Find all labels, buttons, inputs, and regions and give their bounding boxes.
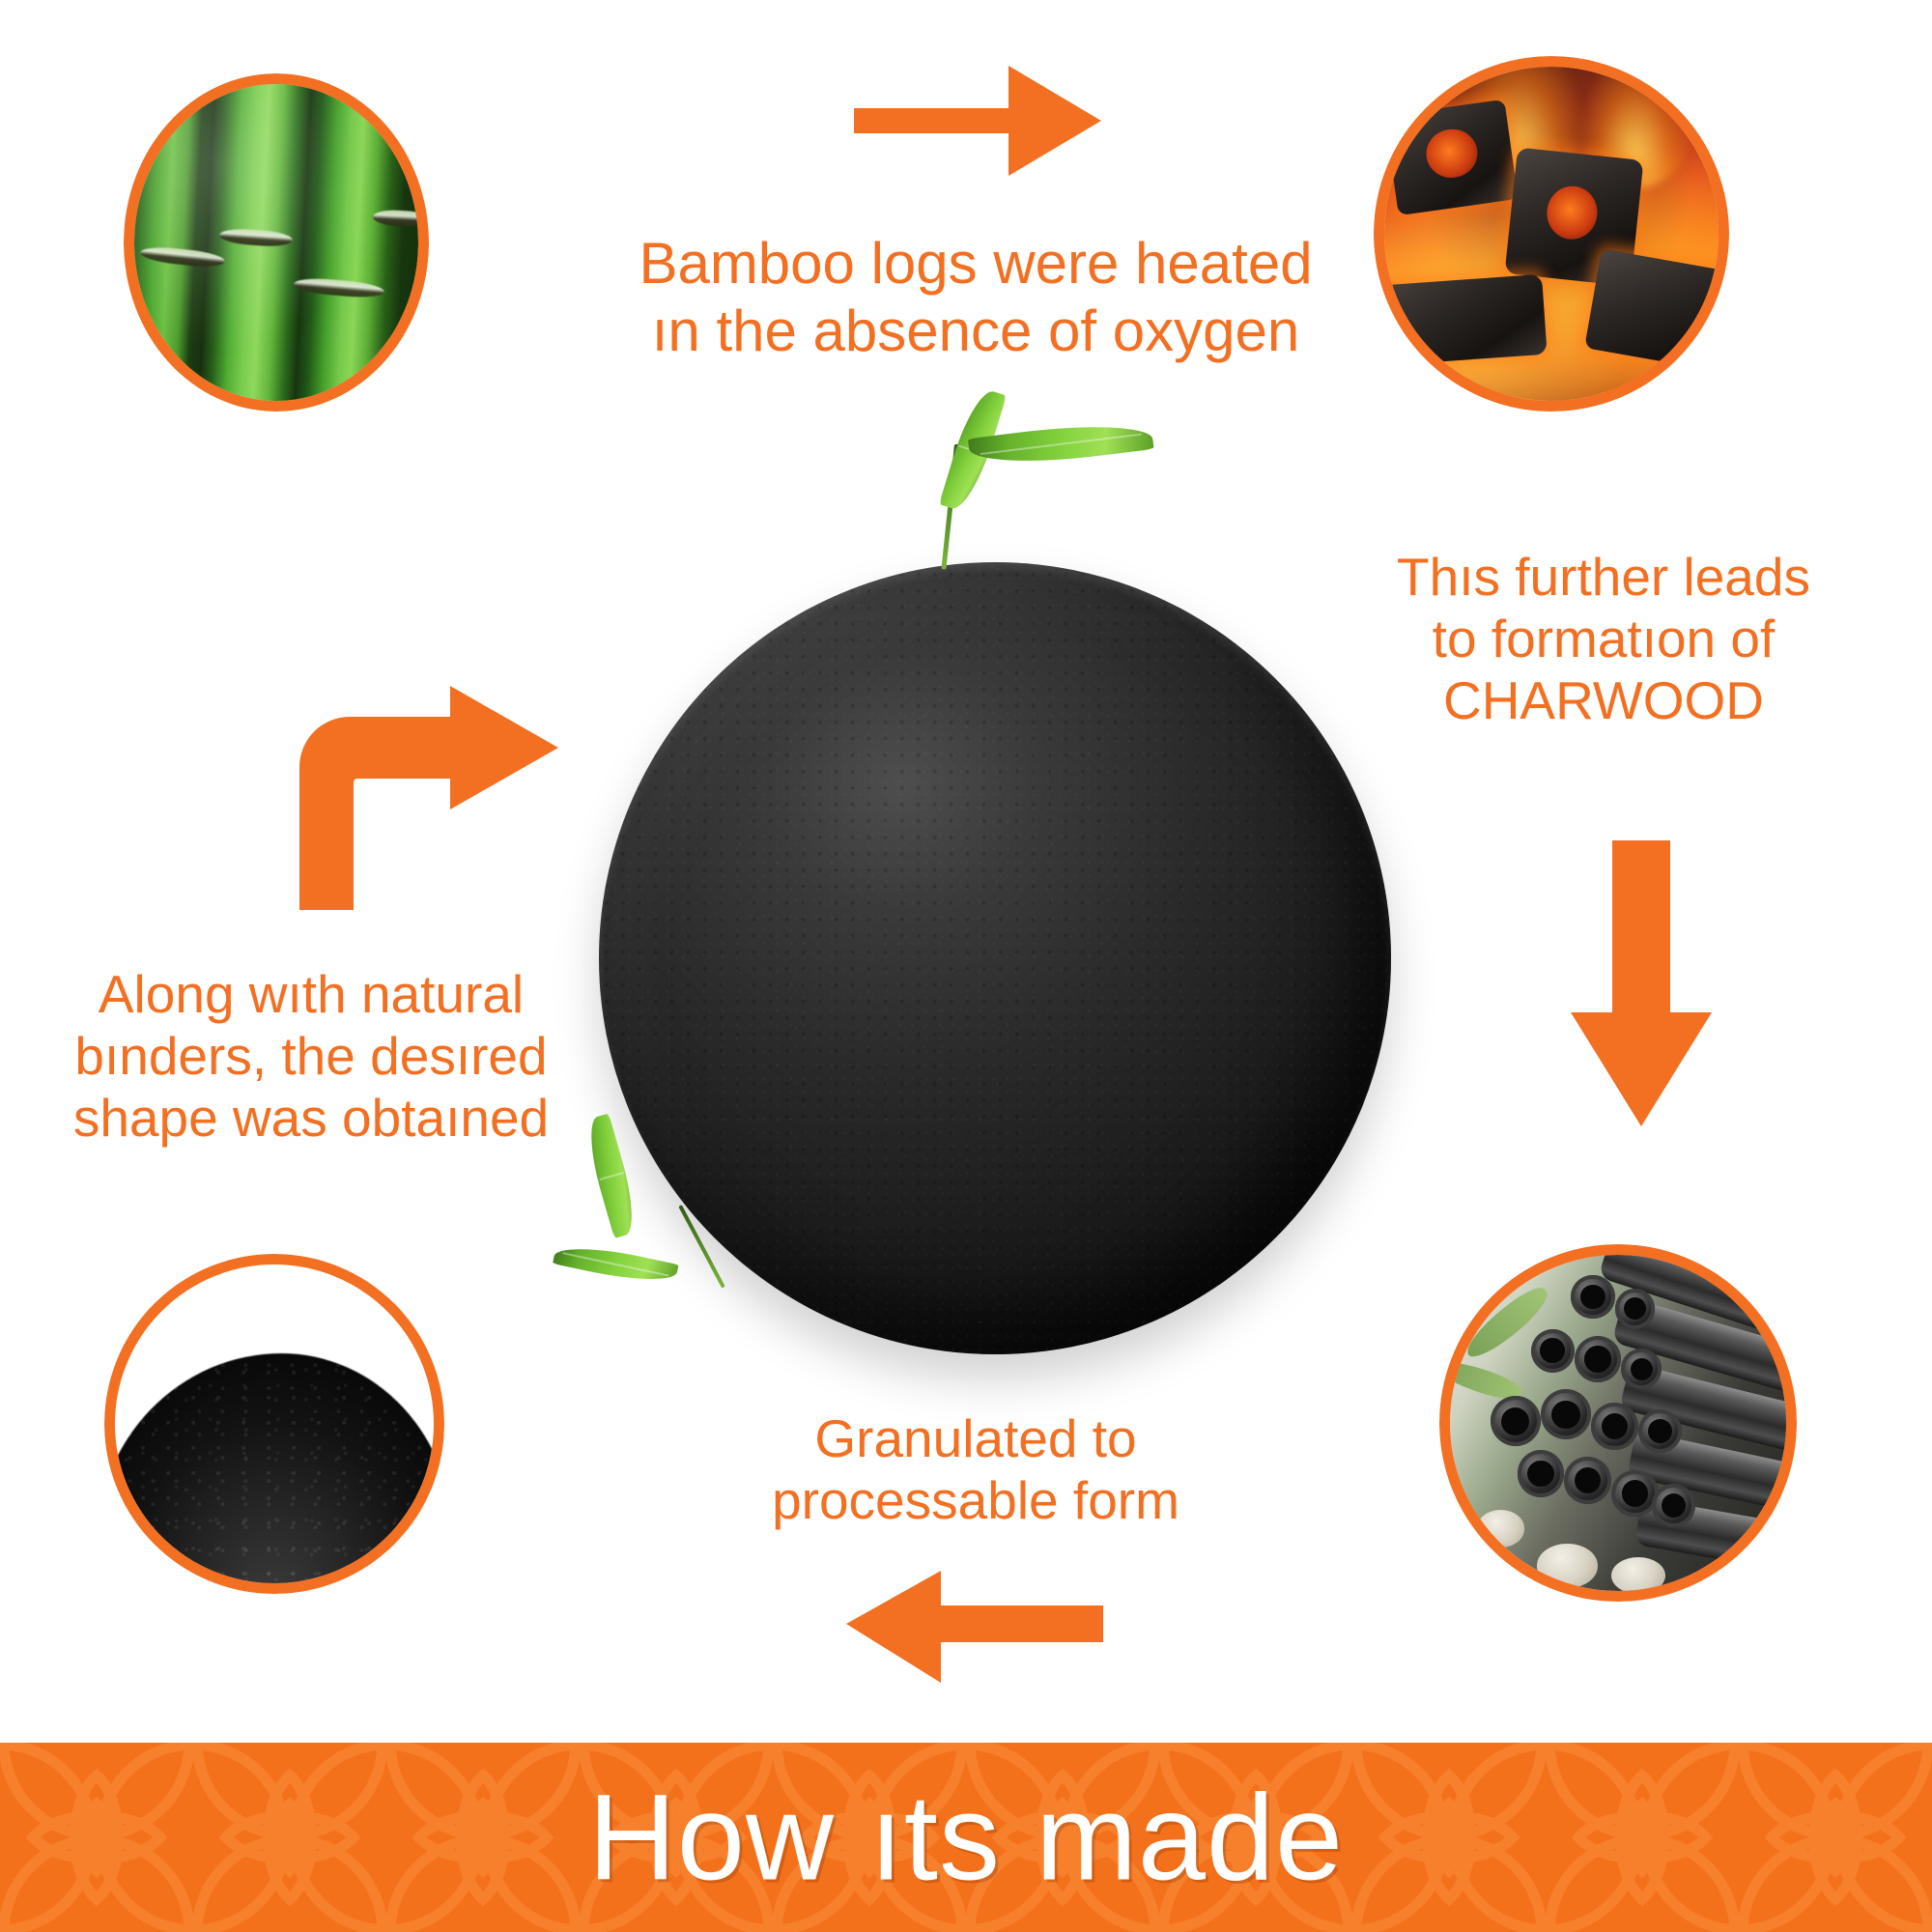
charcoal-powder-image	[115, 1264, 434, 1583]
step-4-caption: Along wıth natural bınders, the desıred …	[12, 964, 611, 1149]
banner-title: How ıts made	[0, 1768, 1932, 1908]
charcoal-tube	[1652, 1484, 1695, 1527]
charcoal-tubes-image	[1450, 1255, 1786, 1591]
charcoal-briquette	[1384, 274, 1548, 366]
white-stone	[1477, 1510, 1524, 1547]
arrow-left-icon	[844, 1571, 1105, 1716]
charcoal-tube	[1518, 1450, 1565, 1497]
burning-charcoal-photo	[1374, 56, 1729, 412]
charcoal-tube	[1491, 1396, 1541, 1446]
burning-charcoal-image	[1384, 67, 1719, 401]
fire-texture	[1384, 67, 1719, 401]
white-stone	[1537, 1544, 1598, 1587]
bamboo-leaf	[553, 1239, 679, 1290]
tubes-texture	[1450, 1255, 1786, 1591]
charcoal-tube	[1541, 1389, 1591, 1439]
bamboo-texture	[134, 84, 418, 401]
powder-grain	[115, 1264, 434, 1583]
arrow-elbow-up-right-icon	[284, 670, 570, 912]
leaf-vein	[562, 1252, 669, 1276]
charcoal-tube	[1575, 1336, 1622, 1383]
charcoal-tube	[1571, 1275, 1614, 1319]
charcoal-tube	[1531, 1329, 1575, 1373]
step-1-caption: Bamboo logs were heated ın the absence o…	[580, 230, 1372, 364]
charcoal-tube	[1615, 1289, 1656, 1329]
charcoal-tube	[1591, 1403, 1638, 1450]
arrow-right-icon	[854, 58, 1105, 184]
bottom-banner: How ıts made	[0, 1743, 1932, 1932]
arrow-down-icon	[1569, 840, 1714, 1130]
bamboo-logs-image	[134, 84, 418, 401]
bamboo-logs-photo	[124, 73, 429, 412]
charcoal-tube	[1611, 1470, 1659, 1518]
white-stone	[1611, 1557, 1665, 1591]
charcoal-tubes-photo	[1439, 1244, 1797, 1602]
bottom-leaf-cluster	[580, 1130, 831, 1314]
step-2-caption: Thıs further leads to formatıon of CHARW…	[1352, 547, 1855, 731]
top-leaf-cluster	[889, 394, 1179, 568]
charcoal-powder-photo	[104, 1254, 444, 1594]
charcoal-briquette	[1584, 248, 1719, 373]
step-3-caption: Granulated to processable form	[676, 1408, 1275, 1532]
briquette-hole	[1545, 184, 1601, 241]
briquette-hole	[1423, 126, 1480, 181]
infographic-canvas: Bamboo logs were heated ın the absence o…	[0, 0, 1932, 1932]
charcoal-tube	[1564, 1457, 1611, 1504]
leaf-stem	[678, 1205, 725, 1289]
charcoal-briquette	[1384, 99, 1518, 214]
leaf-vein	[599, 1172, 624, 1180]
leaf-vein	[980, 434, 1141, 455]
powder-texture	[115, 1264, 434, 1583]
